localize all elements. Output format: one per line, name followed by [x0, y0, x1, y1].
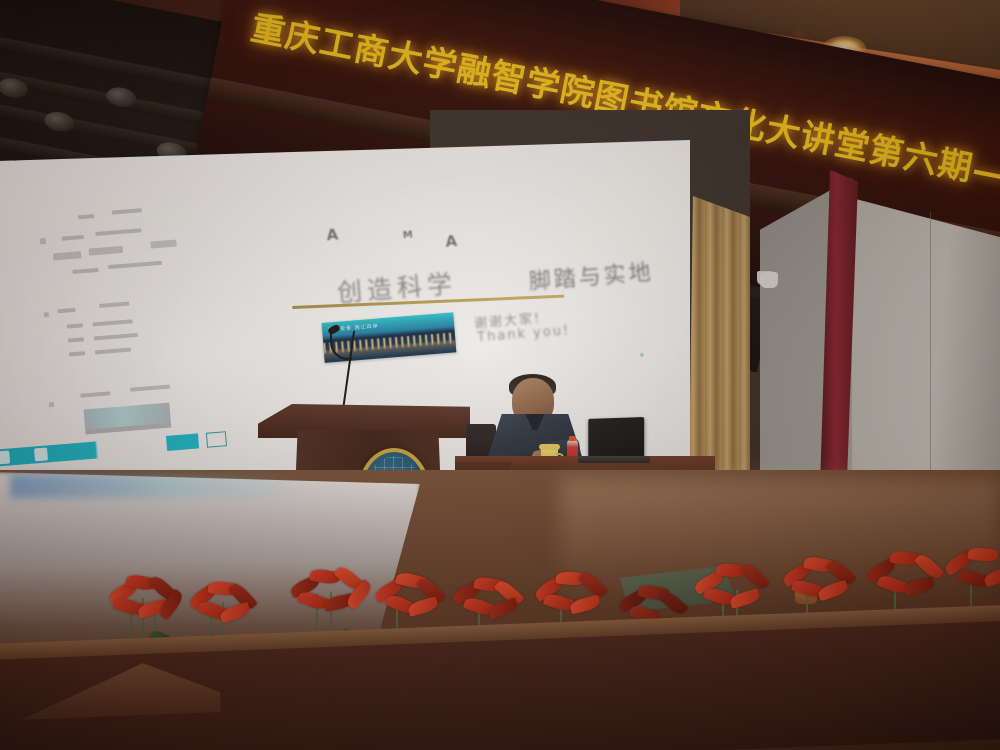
laptop-base: [578, 456, 650, 463]
slide-mark: A: [445, 232, 459, 251]
slide-bullet-dot: ●: [639, 349, 645, 359]
floor-reflection-tint: [10, 474, 310, 498]
slide-mark: A: [326, 225, 340, 244]
current-slide: A M A 创造科学 脚踏与实地 重庆夜景 两江四岸 谢谢大家! Thank y…: [280, 199, 685, 430]
slide-thumbnail-panel: [20, 200, 268, 448]
tea-cup-lid: [539, 444, 560, 450]
lecture-hall-photo: 重庆工商大学融智学院图书馆文化大讲堂第六期——科学与神学之间: [0, 0, 1000, 750]
water-bottle-cap: [569, 436, 576, 441]
tray-icon[interactable]: [166, 433, 199, 451]
slide-subtitle: 脚踏与实地: [528, 254, 655, 296]
taskbar-icon[interactable]: [0, 450, 10, 464]
taskbar-icon[interactable]: [34, 447, 48, 461]
ceiling-vent-icon: [792, 30, 806, 39]
tray-icon[interactable]: [206, 431, 227, 448]
slide-mark: M: [402, 229, 414, 241]
laptop: [588, 417, 644, 461]
security-camera-icon: [760, 272, 778, 288]
